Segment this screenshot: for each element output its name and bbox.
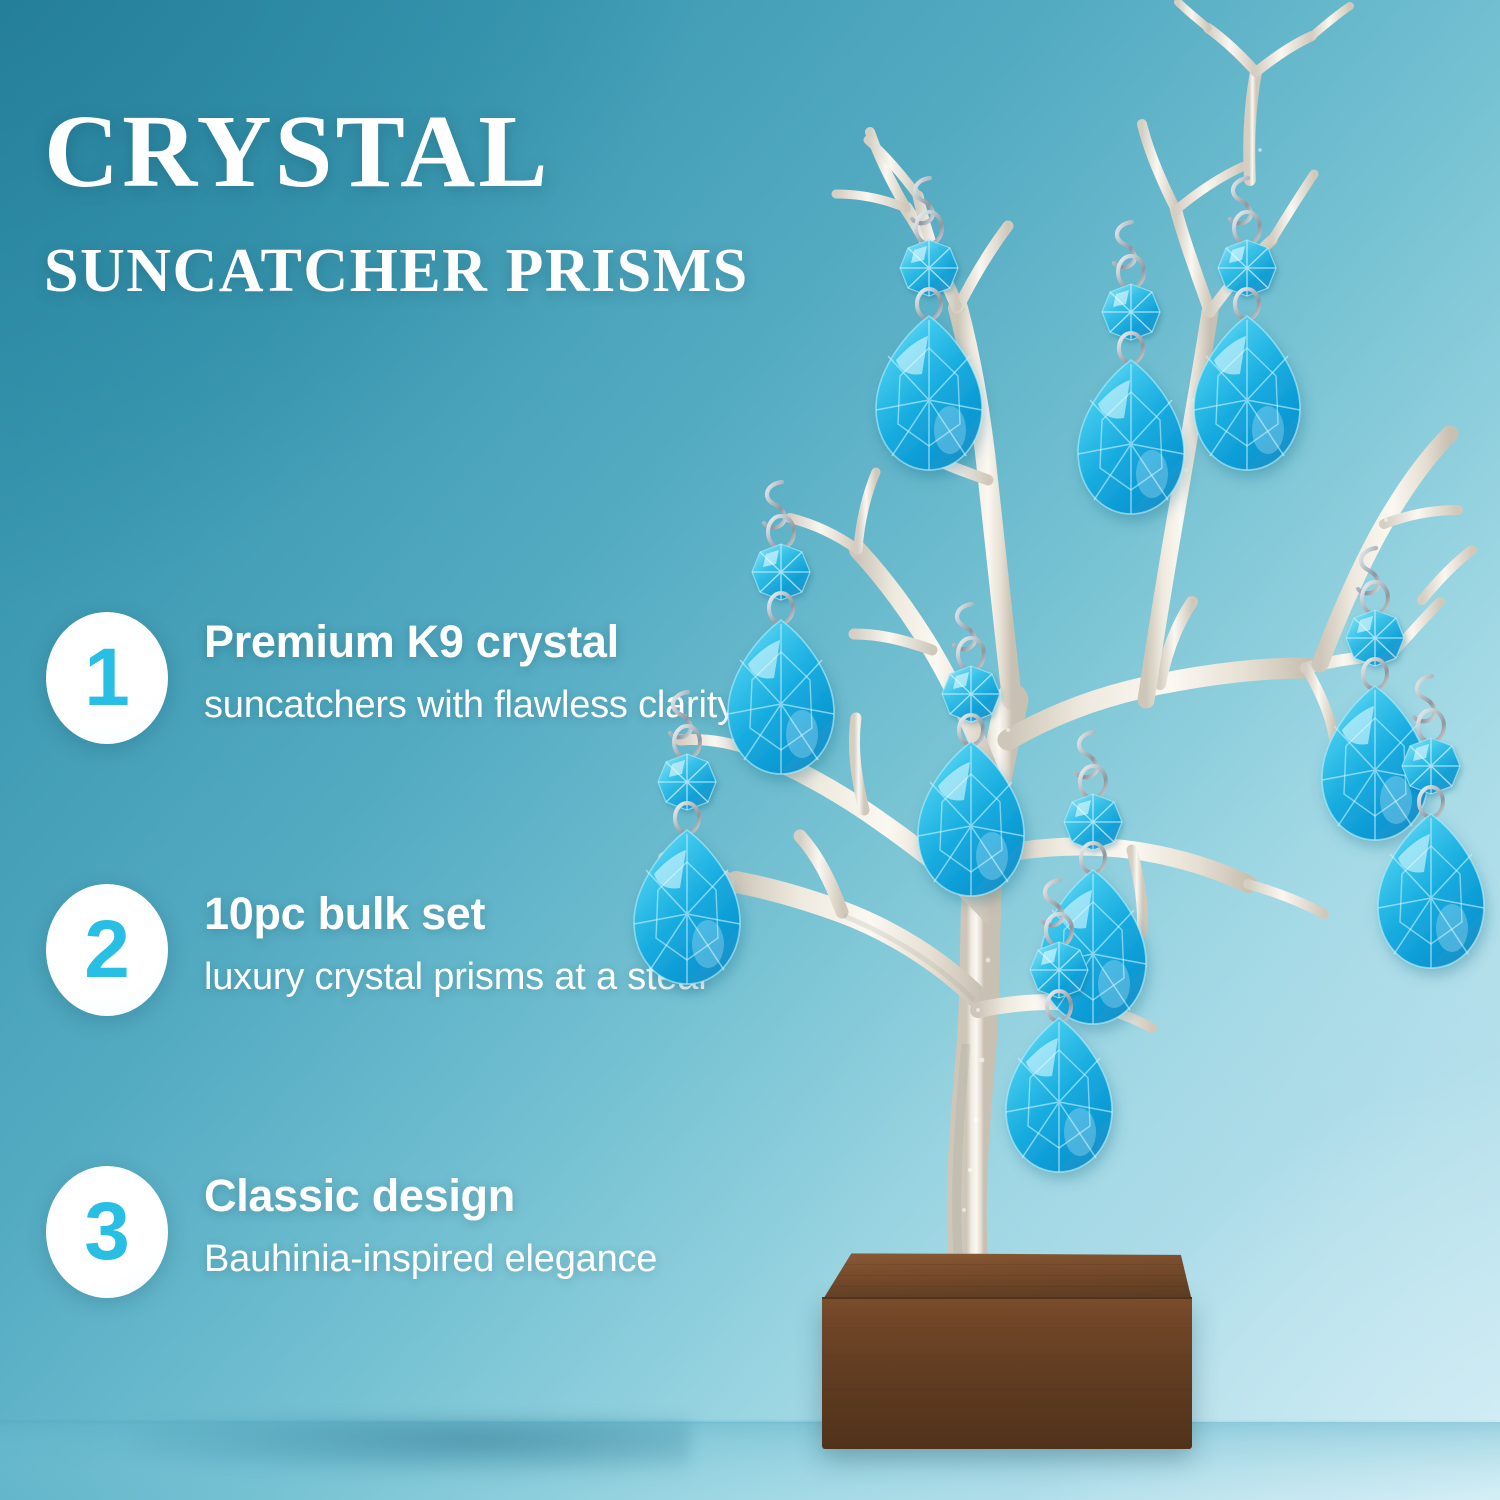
suncatcher-5 (634, 692, 740, 984)
wooden-base (822, 1253, 1192, 1453)
suncatcher-2 (1078, 222, 1184, 514)
feature-badge-1: 1 (46, 612, 168, 744)
suncatcher-group (634, 178, 1484, 1172)
base-front-face (822, 1297, 1192, 1449)
feature-badge-2: 2 (46, 884, 168, 1016)
product-photo (560, 0, 1500, 1500)
feature-number-2: 2 (84, 909, 130, 991)
product-marketing-image: CRYSTAL SUNCATCHER PRISMS 1 Premium K9 c… (0, 0, 1500, 1500)
feature-number-1: 1 (84, 637, 130, 719)
feature-badge-3: 3 (46, 1166, 168, 1298)
feature-number-3: 3 (84, 1191, 130, 1273)
suncatcher-9 (1322, 548, 1428, 840)
base-top-face (822, 1253, 1192, 1301)
